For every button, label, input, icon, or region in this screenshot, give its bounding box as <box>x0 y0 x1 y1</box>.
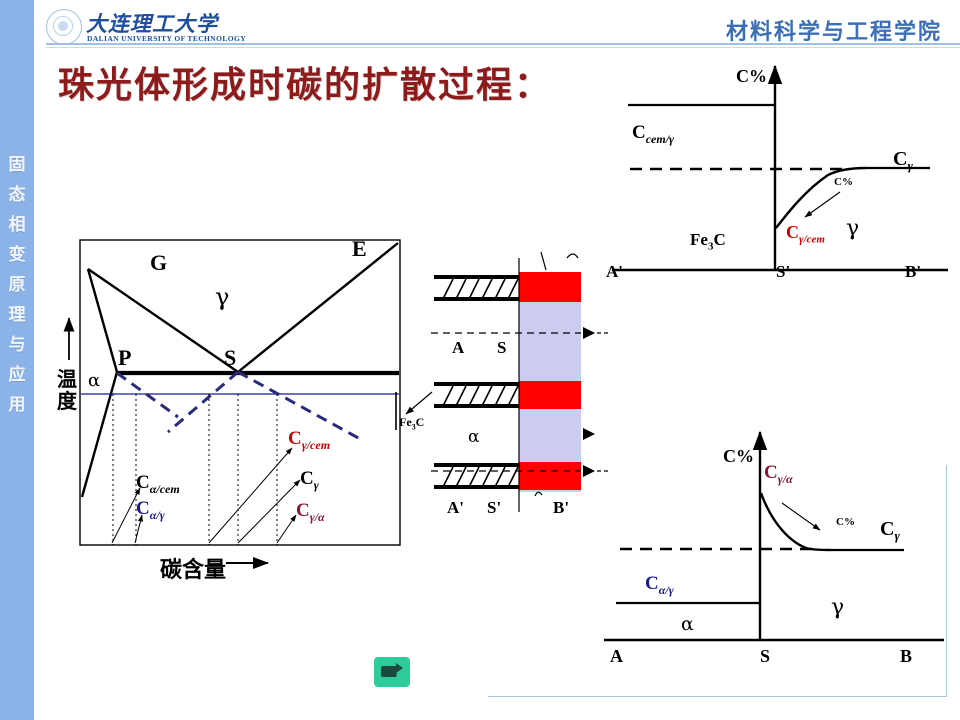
label-c-alpha-gamma: Cα/γ <box>136 498 165 523</box>
sidebar-char-1: 态 <box>0 180 34 210</box>
microstructure-lamellae <box>434 277 519 487</box>
label-c-gamma: Cγ <box>300 468 319 493</box>
microstructure-pointer-ticks <box>535 252 578 496</box>
label-c-gamma-cem-sub: γ/cem <box>302 438 330 452</box>
tr-xtick-b-prime: B' <box>905 262 921 282</box>
br-annotation-cpercent: C% <box>836 516 855 528</box>
br-label-c-gamma-alpha-sub: γ/α <box>778 472 793 486</box>
sidebar-char-0: 固 <box>0 150 34 180</box>
slide-border-bottom <box>488 696 946 697</box>
br-label-alpha-region: α <box>681 613 694 635</box>
tr-label-fe3c: Fe3C <box>690 230 726 252</box>
slide-border-right <box>946 465 947 697</box>
university-seal-icon <box>46 9 82 45</box>
tr-label-c-gamma-sub: γ <box>907 158 912 173</box>
br-label-gamma-region: γ <box>831 595 844 620</box>
label-c-gamma-alpha-main: C <box>296 500 310 521</box>
label-c-gamma-alpha-sub: γ/α <box>310 510 325 524</box>
phase-point-e: E <box>352 236 367 262</box>
media-play-icon[interactable] <box>374 657 410 687</box>
sidebar-char-5: 理 <box>0 300 34 330</box>
tr-annotation-cpercent: C% <box>834 176 853 188</box>
br-label-c-alpha-gamma-main: C <box>645 573 659 594</box>
br-label-c-alpha-gamma-sub: α/γ <box>659 583 674 597</box>
tr-label-c-gamma: Cγ <box>893 148 913 174</box>
label-c-alpha-gamma-sub: α/γ <box>150 508 165 522</box>
school-name: 材料科学与工程学院 <box>726 14 942 46</box>
br-xtick-b: B <box>900 646 912 667</box>
sidebar-char-8: 用 <box>0 390 34 420</box>
br-xtick-a: A <box>610 646 623 667</box>
br-label-c-gamma-sub: γ <box>894 528 899 543</box>
phase-point-p: P <box>118 345 131 371</box>
tr-label-c-cem-gamma-sub: cem/γ <box>646 132 674 146</box>
sidebar-char-6: 与 <box>0 330 34 360</box>
label-c-gamma-alpha: Cγ/α <box>296 500 325 525</box>
tr-label-c-gamma-cem-main: C <box>786 222 799 242</box>
micro-label-s-prime: S' <box>487 498 501 518</box>
slide-canvas: 固 态 相 变 原 理 与 应 用 大连理工大学 DALIAN UNIVERSI… <box>0 0 960 720</box>
micro-label-fe3c: Fe3C <box>399 415 424 431</box>
br-label-c-gamma-alpha-main: C <box>764 462 778 483</box>
phase-point-g: G <box>150 250 167 276</box>
label-c-gamma-sub: γ <box>314 478 319 492</box>
sidebar-char-4: 原 <box>0 270 34 300</box>
tr-xtick-s-prime: S' <box>776 262 790 282</box>
micro-label-b-prime: B' <box>553 498 569 518</box>
y-label-char-1: 度 <box>55 390 79 412</box>
phase-axis-x-label: 碳含量 <box>160 552 226 584</box>
microstructure-austenite-block <box>519 258 581 512</box>
tr-label-gamma-region: γ <box>846 216 859 241</box>
micro-label-alpha: α <box>468 427 479 447</box>
label-c-gamma-main: C <box>300 468 314 489</box>
phase-point-s: S <box>224 345 236 371</box>
sidebar-char-7: 应 <box>0 360 34 390</box>
phase-region-gamma: γ <box>215 283 229 311</box>
micro-label-a-prime: A' <box>447 498 464 518</box>
tr-label-c-cem-gamma-main: C <box>632 122 646 143</box>
tr-label-c-cem-gamma: Ccem/γ <box>632 122 674 147</box>
br-label-c-alpha-gamma: Cα/γ <box>645 573 674 598</box>
label-c-alpha-gamma-main: C <box>136 498 150 519</box>
label-c-alpha-cem-sub: α/cem <box>150 482 180 496</box>
header-rule-secondary <box>46 47 960 48</box>
tr-label-c-gamma-cem-sub: γ/cem <box>799 234 825 246</box>
microstructure-direction-markers <box>583 327 595 477</box>
phase-region-alpha: α <box>88 370 100 391</box>
logo-english-name: DALIAN UNIVERSITY OF TECHNOLOGY <box>87 34 246 43</box>
br-label-c-gamma-main: C <box>880 518 894 540</box>
label-c-alpha-cem-main: C <box>136 472 150 493</box>
phase-diagram-frame <box>69 240 400 545</box>
micro-label-s: S <box>497 338 506 358</box>
page-title: 珠光体形成时碳的扩散过程： <box>58 56 552 108</box>
header-rule-primary <box>46 43 960 45</box>
label-c-gamma-cem: Cγ/cem <box>288 428 330 453</box>
label-c-gamma-cem-main: C <box>288 428 302 449</box>
tr-axis-label-cpercent: C% <box>736 66 767 87</box>
br-label-c-gamma-alpha: Cγ/α <box>764 462 793 487</box>
phase-axis-y-label: 温 度 <box>55 368 79 412</box>
micro-label-a: A <box>452 338 464 358</box>
tr-label-c-gamma-cem: Cγ/cem <box>786 222 825 246</box>
sidebar-vertical-title: 固 态 相 变 原 理 与 应 用 <box>0 150 34 420</box>
y-label-char-0: 温 <box>55 368 79 390</box>
tr-xtick-a-prime: A' <box>606 262 623 282</box>
tr-label-c-gamma-main: C <box>893 148 907 170</box>
diagram-vector-layer <box>0 0 960 720</box>
br-axis-label-cpercent: C% <box>723 446 754 467</box>
br-xtick-s: S <box>760 646 770 667</box>
university-logo: 大连理工大学 DALIAN UNIVERSITY OF TECHNOLOGY <box>46 6 256 48</box>
br-label-c-gamma: Cγ <box>880 518 900 544</box>
label-c-alpha-cem: Cα/cem <box>136 472 180 497</box>
sidebar-char-2: 相 <box>0 210 34 240</box>
sidebar-char-3: 变 <box>0 240 34 270</box>
